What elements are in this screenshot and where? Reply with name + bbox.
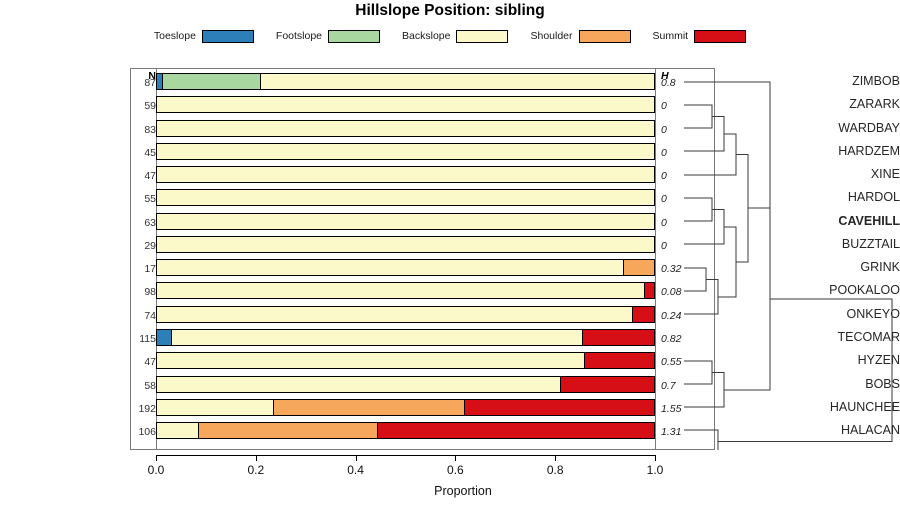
legend-item-footslope[interactable]: Footslope bbox=[276, 30, 380, 43]
bar-segment bbox=[624, 260, 654, 275]
bar-segment bbox=[163, 74, 261, 89]
stacked-bar[interactable] bbox=[156, 259, 655, 276]
legend-label: Summit bbox=[653, 30, 689, 42]
bar-segment bbox=[561, 377, 654, 392]
x-tick bbox=[455, 455, 456, 461]
row-n-value: 58 bbox=[131, 380, 156, 392]
bar-segment bbox=[583, 330, 654, 345]
bar-segment bbox=[633, 307, 654, 322]
legend-item-shoulder[interactable]: Shoulder bbox=[530, 30, 630, 43]
bar-segment bbox=[157, 400, 274, 415]
legend-label: Shoulder bbox=[530, 30, 572, 42]
row-n-value: 98 bbox=[131, 286, 156, 298]
legend-swatch-toeslope bbox=[202, 30, 254, 43]
bar-segment bbox=[157, 97, 654, 112]
row-n-value: 55 bbox=[131, 193, 156, 205]
plot-right-divider bbox=[655, 68, 656, 450]
x-tick bbox=[156, 455, 157, 461]
row-n-value: 74 bbox=[131, 310, 156, 322]
stacked-bar[interactable] bbox=[156, 306, 655, 323]
row-n-value: 47 bbox=[131, 170, 156, 182]
bar-segment bbox=[157, 377, 561, 392]
page-title: Hillslope Position: sibling bbox=[0, 2, 900, 20]
x-tick-label: 0.4 bbox=[333, 463, 379, 477]
stacked-bar[interactable] bbox=[156, 329, 655, 346]
bar-segment bbox=[645, 283, 654, 298]
dendrogram-svg bbox=[670, 68, 900, 450]
x-tick bbox=[256, 455, 257, 461]
legend: ToeslopeFootslopeBackslopeShoulderSummit bbox=[0, 26, 900, 46]
bar-segment bbox=[157, 190, 654, 205]
stacked-bar[interactable] bbox=[156, 166, 655, 183]
legend-item-toeslope[interactable]: Toeslope bbox=[154, 30, 254, 43]
x-tick bbox=[356, 455, 357, 461]
bar-segment bbox=[261, 74, 654, 89]
bar-segment bbox=[172, 330, 584, 345]
stacked-bar[interactable] bbox=[156, 120, 655, 137]
row-n-value: 47 bbox=[131, 356, 156, 368]
x-tick-label: 0.6 bbox=[432, 463, 478, 477]
bar-segment bbox=[274, 400, 465, 415]
stacked-bar[interactable] bbox=[156, 143, 655, 160]
stacked-bar[interactable] bbox=[156, 73, 655, 90]
row-n-value: 87 bbox=[131, 77, 156, 89]
legend-label: Backslope bbox=[402, 30, 450, 42]
x-axis-label: Proportion bbox=[0, 484, 900, 498]
x-axis-label-text: Proportion bbox=[434, 484, 492, 498]
x-tick-label: 1.0 bbox=[632, 463, 678, 477]
stacked-bar[interactable] bbox=[156, 376, 655, 393]
x-tick-label: 0.2 bbox=[233, 463, 279, 477]
bar-segment bbox=[157, 307, 633, 322]
x-axis-line bbox=[156, 455, 655, 456]
bar-segment bbox=[585, 353, 654, 368]
row-n-value: 83 bbox=[131, 124, 156, 136]
bar-segment bbox=[157, 121, 654, 136]
legend-swatch-summit bbox=[694, 30, 746, 43]
bar-segment bbox=[157, 330, 172, 345]
bar-segment bbox=[157, 353, 585, 368]
chart-root: Hillslope Position: sibling ToeslopeFoot… bbox=[0, 0, 900, 520]
legend-swatch-backslope bbox=[456, 30, 508, 43]
row-n-value: 192 bbox=[131, 403, 156, 415]
stacked-bar[interactable] bbox=[156, 213, 655, 230]
bar-segment bbox=[157, 167, 654, 182]
legend-item-backslope[interactable]: Backslope bbox=[402, 30, 508, 43]
legend-swatch-shoulder bbox=[579, 30, 631, 43]
x-tick-label: 0.8 bbox=[532, 463, 578, 477]
row-n-value: 17 bbox=[131, 263, 156, 275]
row-n-value: 59 bbox=[131, 100, 156, 112]
row-n-value: 45 bbox=[131, 147, 156, 159]
bar-segment bbox=[157, 260, 624, 275]
bar-segment bbox=[378, 423, 654, 438]
legend-label: Footslope bbox=[276, 30, 322, 42]
bar-segment bbox=[157, 423, 199, 438]
row-n-value: 63 bbox=[131, 217, 156, 229]
bar-segment bbox=[157, 283, 645, 298]
x-tick bbox=[555, 455, 556, 461]
bar-segment bbox=[465, 400, 654, 415]
row-n-value: 115 bbox=[131, 333, 156, 345]
x-tick bbox=[655, 455, 656, 461]
bar-segment bbox=[157, 144, 654, 159]
legend-label: Toeslope bbox=[154, 30, 196, 42]
bar-segment bbox=[199, 423, 378, 438]
row-n-value: 29 bbox=[131, 240, 156, 252]
bar-segment bbox=[157, 214, 654, 229]
stacked-bar[interactable] bbox=[156, 422, 655, 439]
stacked-bar[interactable] bbox=[156, 352, 655, 369]
cluster-dendrogram bbox=[670, 68, 900, 450]
legend-swatch-footslope bbox=[328, 30, 380, 43]
legend-item-summit[interactable]: Summit bbox=[653, 30, 747, 43]
row-n-value: 106 bbox=[131, 426, 156, 438]
stacked-bar[interactable] bbox=[156, 236, 655, 253]
stacked-bar[interactable] bbox=[156, 96, 655, 113]
stacked-bar[interactable] bbox=[156, 399, 655, 416]
bar-segment bbox=[157, 237, 654, 252]
stacked-bar[interactable] bbox=[156, 189, 655, 206]
x-tick-label: 0.0 bbox=[133, 463, 179, 477]
stacked-bar[interactable] bbox=[156, 282, 655, 299]
